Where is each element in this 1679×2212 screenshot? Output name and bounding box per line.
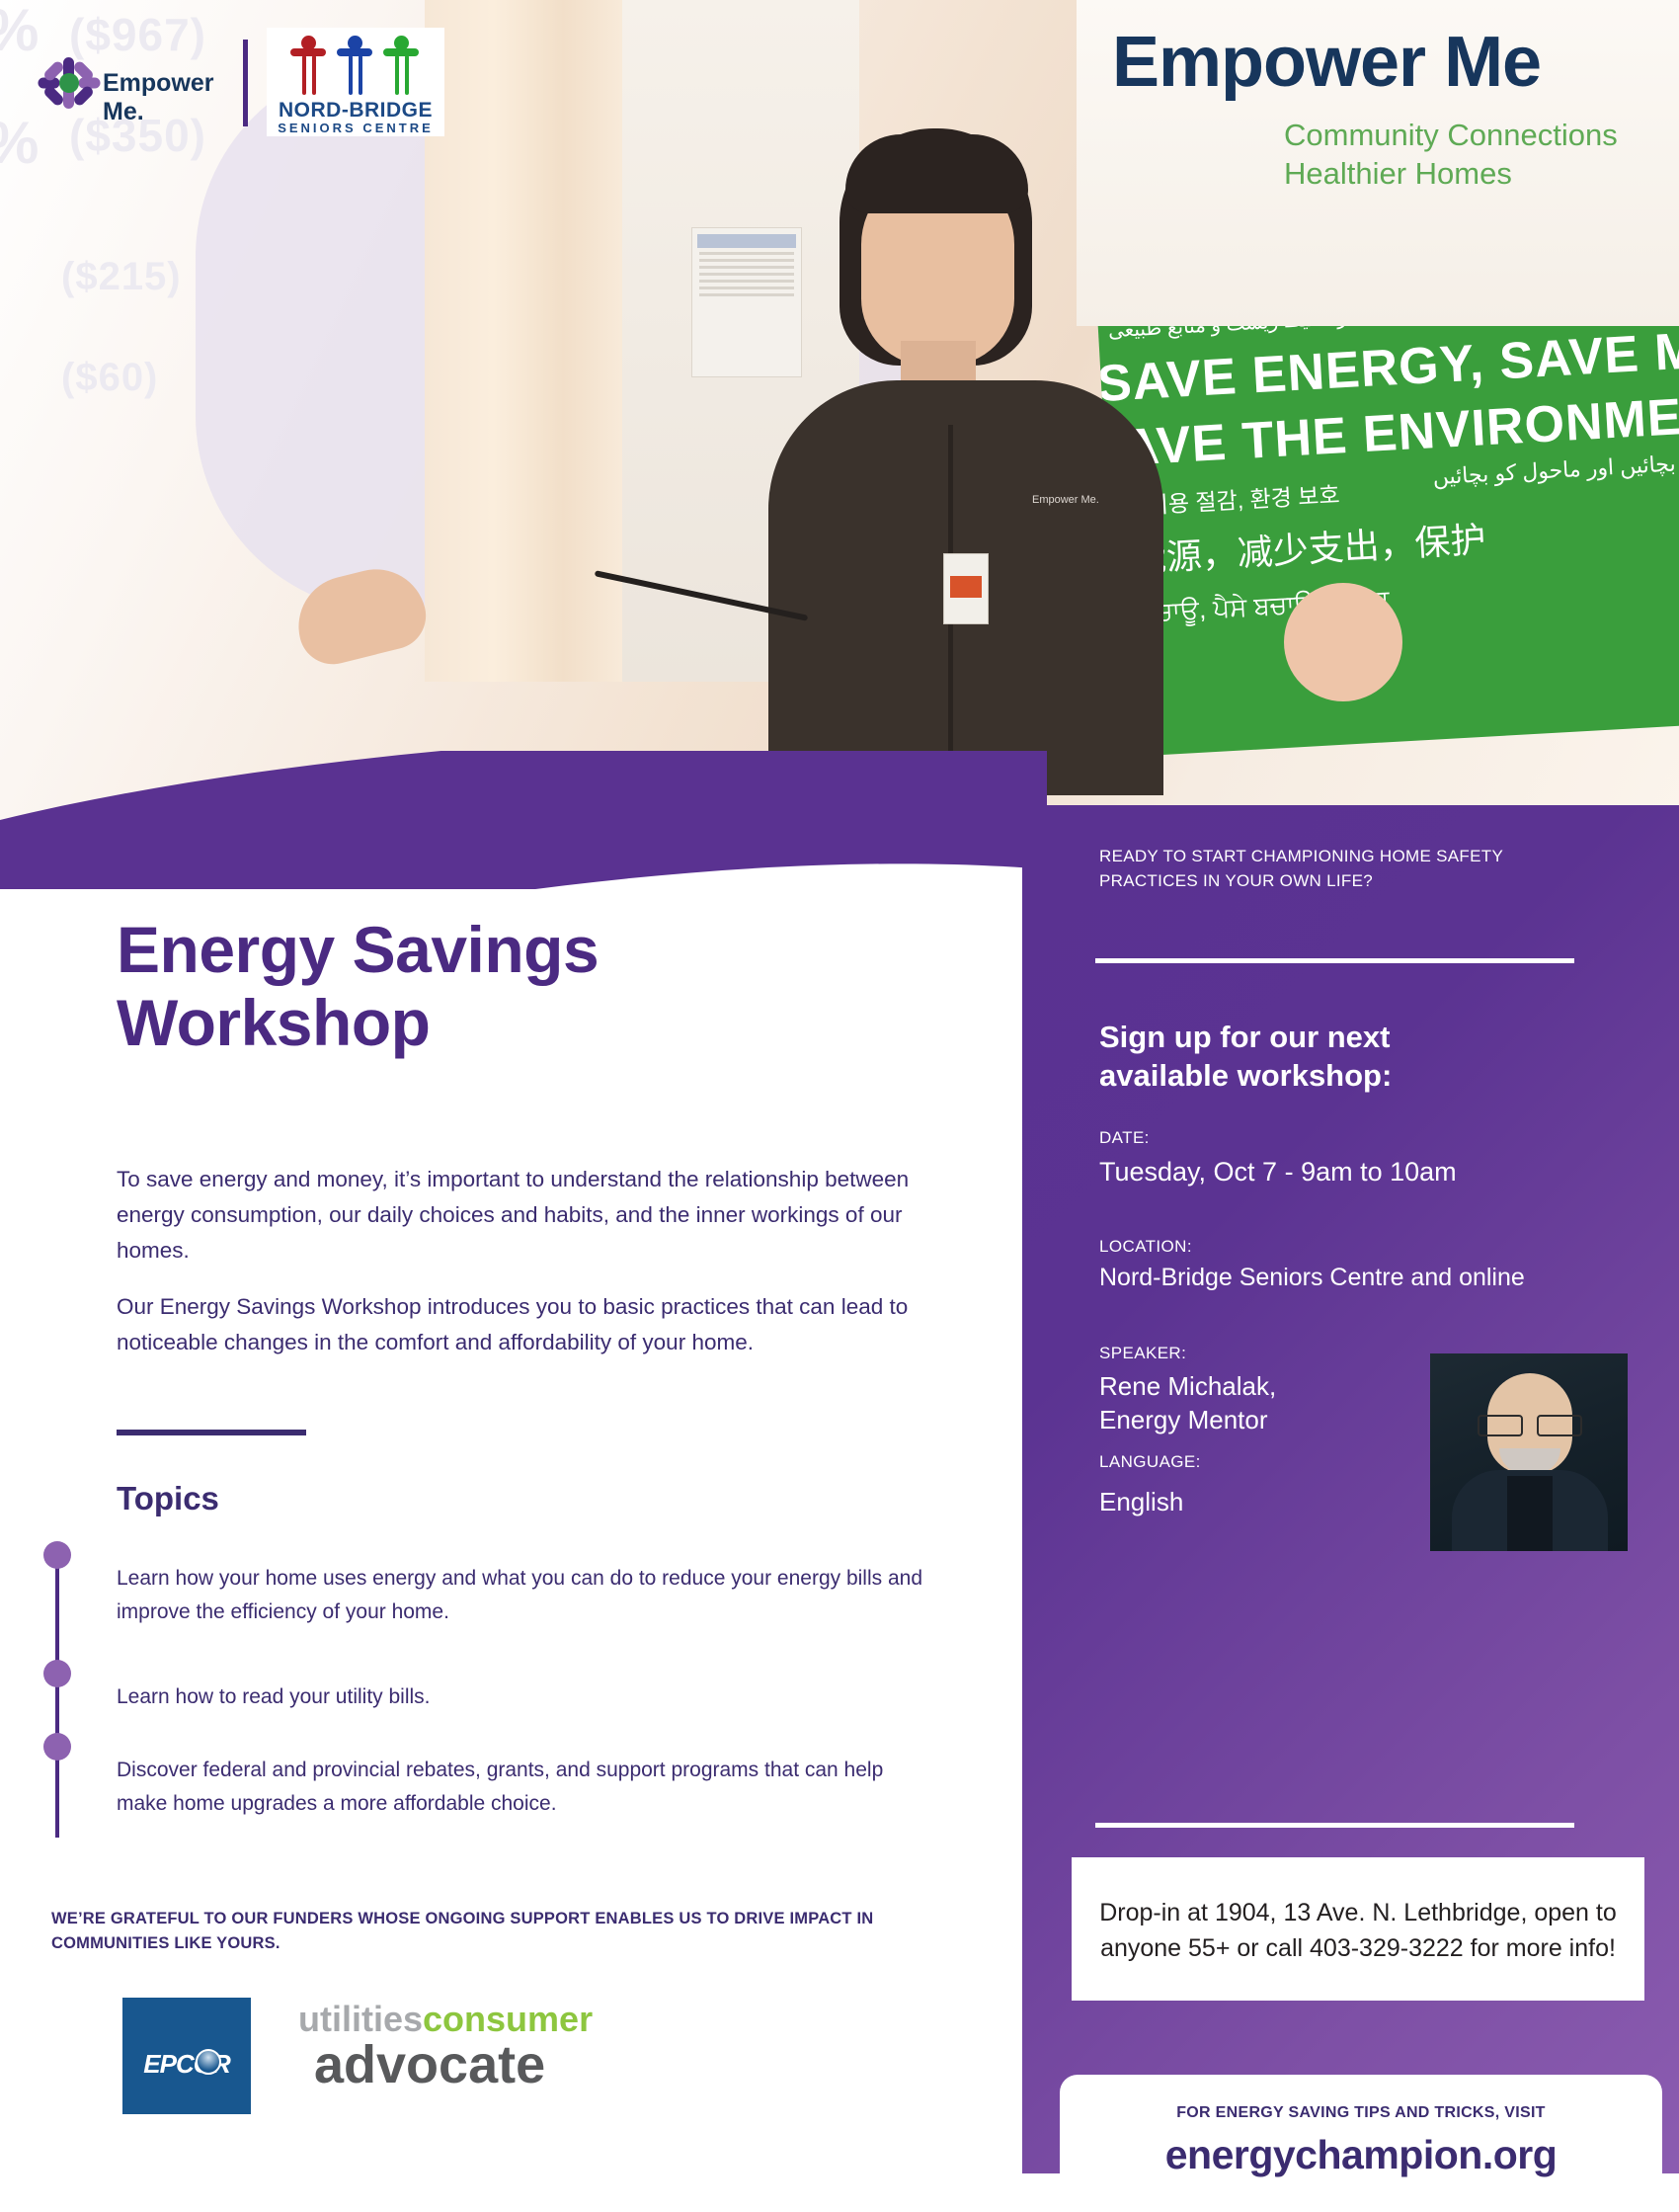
panel-divider-top: [1095, 958, 1574, 963]
funder-logos: EPCOR utilitiesconsumer advocate: [51, 1998, 940, 2116]
audience-hand: [1284, 583, 1402, 701]
banner-subtitle-line1: Community Connections: [1284, 118, 1618, 152]
signup-heading-line1: Sign up for our next: [1099, 1020, 1391, 1054]
eyeglasses-icon: [1478, 1415, 1582, 1433]
cta-kicker: FOR ENERGY SAVING TIPS AND TRICKS, VISIT: [1079, 2104, 1642, 2122]
watermark-text: %: [0, 109, 40, 177]
bullet-dot-icon: [43, 1660, 71, 1687]
epcor-logo: EPCOR: [122, 1998, 251, 2114]
list-item: Discover federal and provincial rebates,…: [117, 1754, 936, 1820]
main-content: Energy Savings Workshop To save energy a…: [0, 889, 1022, 2173]
topics-heading: Topics: [117, 1480, 219, 1517]
funders-section: WE’RE GRATEFUL TO OUR FUNDERS WHOSE ONGO…: [51, 1907, 940, 2116]
utilities-consumer-advocate-logo: utilitiesconsumer advocate: [298, 2002, 713, 2116]
signup-panel: READY TO START CHAMPIONING HOME SAFETY P…: [1022, 805, 1679, 2173]
banner-subtitle-line2: Healthier Homes: [1284, 156, 1512, 191]
bullet-dot-icon: [43, 1733, 71, 1761]
timeline-line: [55, 1563, 59, 1838]
presenter-photo: Empower Me.: [751, 128, 1175, 721]
daisy-icon: [43, 57, 95, 109]
logo-divider: [243, 40, 248, 126]
page-title-line1: Energy Savings: [117, 913, 599, 986]
intro-paragraph-1: To save energy and money, it’s important…: [117, 1162, 946, 1270]
uca-advocate-word: advocate: [314, 2037, 713, 2093]
page-title: Energy Savings Workshop: [117, 914, 808, 1060]
empower-me-logo: Empower Me.: [43, 57, 226, 107]
speaker-headshot: [1430, 1353, 1628, 1551]
date-label: DATE:: [1099, 1128, 1150, 1148]
uca-utilities-word: utilities: [298, 1999, 423, 2039]
empower-me-wordmark: Empower Me.: [103, 69, 226, 126]
panel-divider-bottom: [1095, 1823, 1574, 1828]
intro-paragraph-2: Our Energy Savings Workshop introduces y…: [117, 1289, 946, 1361]
bullet-dot-icon: [43, 1541, 71, 1569]
list-item: Learn how to read your utility bills.: [117, 1680, 936, 1714]
banner-subtitle: Community Connections Healthier Homes: [1284, 117, 1618, 194]
signup-heading: Sign up for our next available workshop:: [1099, 1019, 1563, 1096]
panel-kicker: READY TO START CHAMPIONING HOME SAFETY P…: [1099, 845, 1573, 893]
location-label: LOCATION:: [1099, 1237, 1192, 1257]
nord-bridge-tagline: SENIORS CENTRE: [275, 121, 437, 135]
signup-heading-line2: available workshop:: [1099, 1058, 1392, 1093]
location-value: Nord-Bridge Seniors Centre and online: [1099, 1264, 1525, 1292]
sign-text-chinese-mid: 能源，减少支出，保护: [1129, 511, 1486, 582]
cta-url[interactable]: energychampion.org: [1079, 2132, 1642, 2178]
uca-consumer-word: consumer: [423, 1999, 593, 2039]
epcor-wordmark: EPCOR: [122, 2049, 251, 2080]
uca-line1: utilitiesconsumer: [298, 2002, 713, 2037]
section-divider: [117, 1430, 306, 1435]
date-value: Tuesday, Oct 7 - 9am to 10am: [1099, 1157, 1457, 1188]
list-item: Learn how your home uses energy and what…: [117, 1562, 936, 1628]
speaker-label: SPEAKER:: [1099, 1344, 1186, 1363]
language-value: English: [1099, 1487, 1183, 1517]
dropin-info-box: Drop-in at 1904, 13 Ave. N. Lethbridge, …: [1072, 1857, 1644, 2001]
language-label: LANGUAGE:: [1099, 1452, 1201, 1472]
jacket-logo: Empower Me.: [1032, 494, 1105, 528]
page-title-line2: Workshop: [117, 986, 430, 1059]
funders-note: WE’RE GRATEFUL TO OUR FUNDERS WHOSE ONGO…: [51, 1907, 940, 1956]
watermark-text: %: [0, 0, 40, 64]
speaker-value: Rene Michalak,Energy Mentor: [1099, 1370, 1276, 1437]
globe-icon: [196, 2049, 221, 2075]
cta-url-box[interactable]: FOR ENERGY SAVING TIPS AND TRICKS, VISIT…: [1060, 2075, 1662, 2212]
nord-bridge-logo: NORD-BRIDGE SENIORS CENTRE: [267, 28, 444, 136]
watermark-text: ($967): [69, 8, 206, 61]
watermark-text: ($60): [61, 356, 158, 400]
lanyard-badge: [943, 553, 989, 624]
watermark-text: ($215): [61, 255, 182, 299]
hero-image: % ($967) % ($350) ($215) ($60) 节省能源，减少支出…: [0, 0, 1679, 850]
banner-title: Empower Me: [1112, 22, 1541, 103]
three-people-icon: [290, 36, 419, 97]
nord-bridge-name: NORD-BRIDGE: [275, 99, 437, 123]
